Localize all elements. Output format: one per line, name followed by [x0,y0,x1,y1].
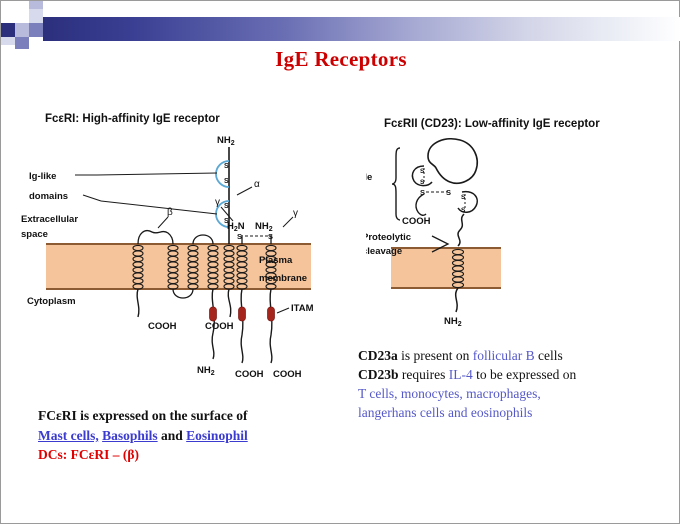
svg-text:S: S [420,168,425,175]
svg-text:α: α [254,179,260,190]
svg-text:S: S [420,179,425,186]
svg-text:γ: γ [293,208,298,219]
svg-text:COOH: COOH [402,216,431,227]
svg-text:S: S [224,163,229,170]
svg-text:S: S [461,207,466,214]
cd23-upper-loop: S S [412,166,432,186]
svg-text:COOH: COOH [273,369,302,379]
cd23-lectin-head [428,139,477,183]
cd23-diagram: S S S S S S COOH [366,136,666,326]
mast-cells-link[interactable]: Mast cells, [38,428,99,443]
svg-text:Ig-like: Ig-like [29,171,56,182]
svg-text:NH2: NH2 [217,135,235,147]
slide-title: IgE Receptors [1,47,680,72]
conjunction-and: and [161,428,183,443]
eosinophil-link[interactable]: Eosinophil [186,428,248,443]
svg-text:NH2: NH2 [255,221,273,233]
cd23a-line: CD23a is present on follicular B cells [358,346,668,365]
svg-text:NH2: NH2 [197,365,215,377]
dc-note-line: DCs: FCεRI – (β) [38,445,338,465]
svg-text:S: S [224,203,229,210]
itam-label-group: ITAM [277,303,314,314]
cd23-description-text: CD23a is present on follicular B cells C… [358,346,668,423]
svg-text:membrane: membrane [259,273,307,284]
basophils-link[interactable]: Basophils [102,428,158,443]
svg-text:Proteolytic: Proteolytic [366,232,411,243]
cd23b-mid: requires [402,367,445,382]
svg-text:γ: γ [215,197,220,208]
svg-text:S: S [268,232,273,241]
cd23b-bold: CD23b [358,367,399,382]
svg-text:Extracellular: Extracellular [21,214,78,225]
cd23b-line: CD23b requires IL-4 to be expressed on [358,365,668,384]
cd23a-blue: follicular B [473,348,535,363]
cd23b-end: to be expressed on [476,367,576,382]
cd23-cooh-arm: COOH [402,194,431,227]
svg-text:H2N: H2N [227,221,245,233]
svg-text:Soluble: Soluble [366,172,372,183]
soluble-cd23-bracket: Soluble CD23 [366,148,400,220]
right-panel-heading: FcεRII (CD23): Low-affinity IgE receptor [384,118,600,130]
cd23b-celltypes-line2: langerhans cells and eosinophils [358,403,668,422]
cd23a-bold: CD23a [358,348,398,363]
fceri-description-text: FCεRI is expressed on the surface of Mas… [38,406,338,465]
cd23-interchain-ss: S S [420,188,451,197]
svg-text:Cytoplasm: Cytoplasm [27,296,76,307]
fceri-expression-line: FCεRI is expressed on the surface of [38,406,338,426]
svg-text:space: space [21,229,48,240]
slide-canvas: IgE Receptors FcεRI: High-affinity IgE r… [1,1,679,523]
svg-text:cleavage: cleavage [366,246,402,257]
header-square-1 [1,23,15,37]
svg-text:COOH: COOH [235,369,264,379]
svg-text:domains: domains [29,191,68,202]
plasma-membrane-right [391,248,501,288]
header-gradient-band [43,17,680,41]
svg-text:COOH: COOH [205,321,234,332]
header-square-2 [15,23,29,37]
svg-text:COOH: COOH [148,321,177,332]
beta-chain: COOH NH2 β [133,207,218,377]
svg-text:NH2: NH2 [444,316,462,326]
svg-text:S: S [237,232,242,241]
svg-text:S: S [224,178,229,185]
svg-text:Plasma: Plasma [259,255,293,266]
cd23b-blue: IL-4 [449,367,473,382]
fceri-diagram: S S S S NH2 COOH α [21,129,351,379]
header-square-7 [1,37,15,45]
cd23b-celltypes-line1: T cells, monocytes, macrophages, [358,384,668,403]
header-square-4 [29,9,43,23]
itam-marker-beta [210,307,217,321]
svg-text:S: S [446,188,451,197]
fceri-celltypes-line: Mast cells, Basophils and Eosinophil [38,426,338,446]
svg-text:ITAM: ITAM [291,303,314,314]
svg-text:S: S [461,194,466,201]
left-panel-heading: FcεRI: High-affinity IgE receptor [45,113,220,125]
cd23a-mid: is present on [401,348,469,363]
header-square-3 [29,23,43,37]
header-square-5 [29,1,43,9]
cd23a-end: cells [538,348,563,363]
cd23-lower-loop: S S [458,192,477,214]
